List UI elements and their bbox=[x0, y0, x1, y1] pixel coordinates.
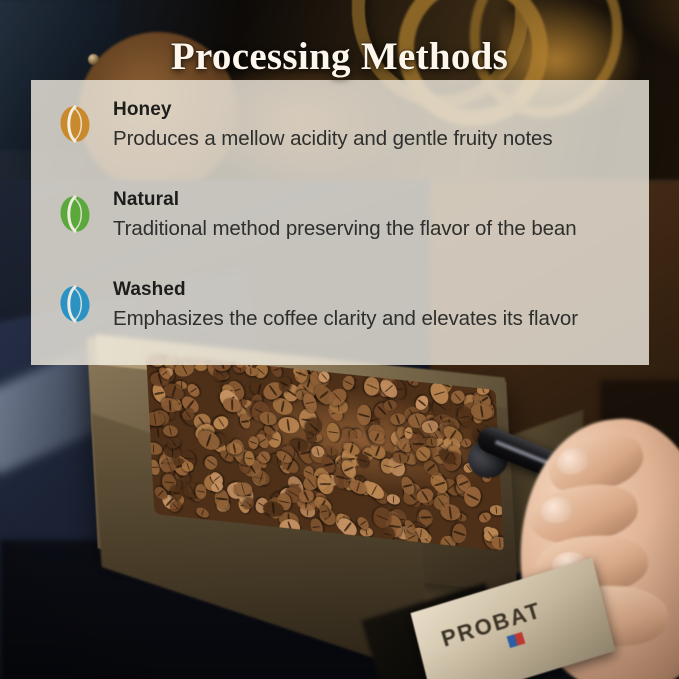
coffee-bean-icon bbox=[53, 192, 97, 236]
list-item-text: Washed Emphasizes the coffee clarity and… bbox=[113, 276, 649, 333]
coffee-bean bbox=[327, 422, 341, 443]
list-item-description: Emphasizes the coffee clarity and elevat… bbox=[113, 304, 649, 334]
coffee-bean bbox=[277, 417, 300, 434]
coffee-bean-icon bbox=[53, 102, 97, 146]
coffee-bean bbox=[171, 485, 182, 501]
list-item: Washed Emphasizes the coffee clarity and… bbox=[31, 276, 649, 366]
list-item-description: Traditional method preserving the flavor… bbox=[113, 214, 649, 244]
list-item: Natural Traditional method preserving th… bbox=[31, 186, 649, 276]
coffee-bean-icon bbox=[53, 282, 97, 326]
list-item-title: Natural bbox=[113, 188, 649, 212]
coffee-bean bbox=[259, 411, 276, 426]
coffee-bean bbox=[362, 374, 381, 398]
list-item-text: Honey Produces a mellow acidity and gent… bbox=[113, 96, 649, 153]
screenshot-root: PROBAT Processing Methods Honey Produces… bbox=[0, 0, 679, 679]
page-title: Processing Methods bbox=[0, 34, 679, 79]
list-item-title: Washed bbox=[113, 278, 649, 302]
coffee-bean bbox=[245, 366, 257, 377]
processing-methods-list: Honey Produces a mellow acidity and gent… bbox=[31, 96, 649, 366]
coffee-bean bbox=[203, 454, 220, 472]
coffee-bean bbox=[325, 446, 337, 456]
coffee-bean bbox=[387, 494, 400, 506]
list-item-title: Honey bbox=[113, 98, 649, 122]
list-item-text: Natural Traditional method preserving th… bbox=[113, 186, 649, 243]
list-item: Honey Produces a mellow acidity and gent… bbox=[31, 96, 649, 186]
coffee-bean bbox=[195, 505, 210, 519]
list-item-description: Produces a mellow acidity and gentle fru… bbox=[113, 124, 649, 154]
